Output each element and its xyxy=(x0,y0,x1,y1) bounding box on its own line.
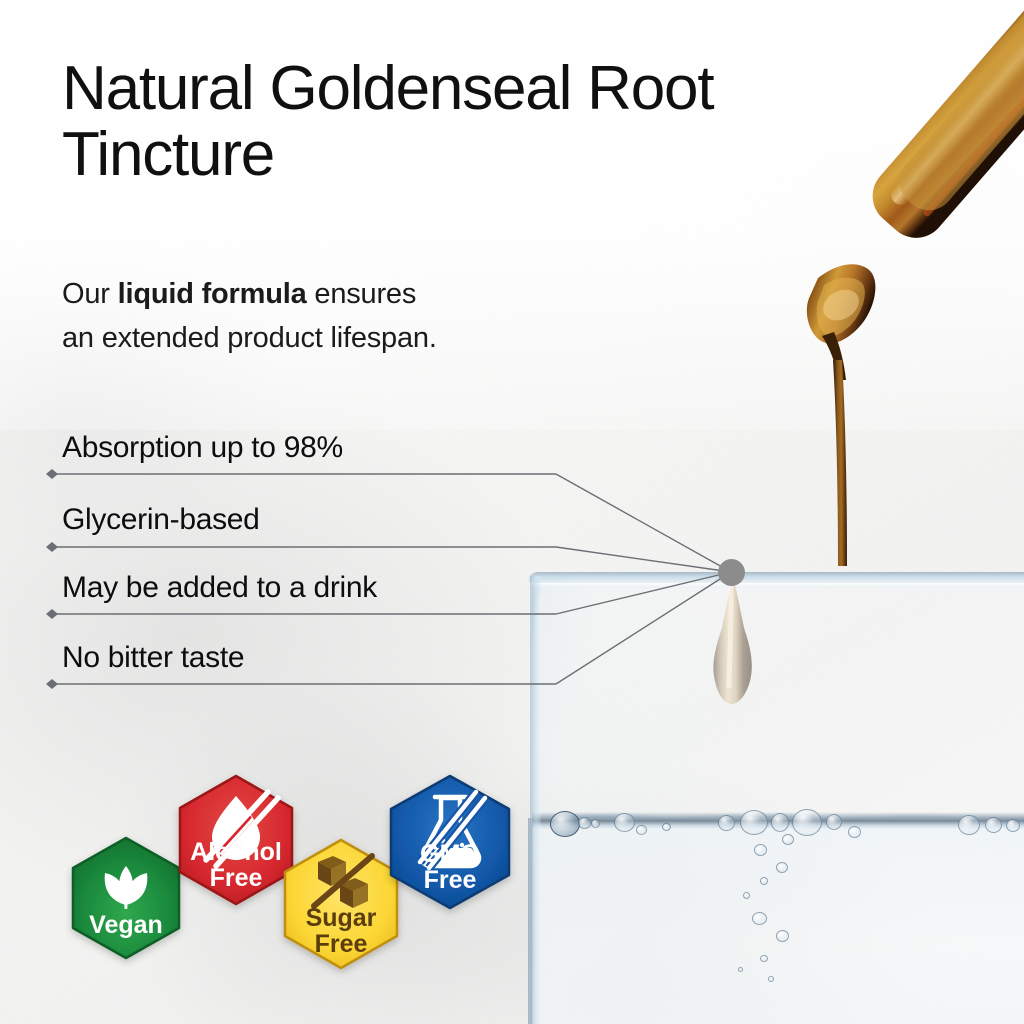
bubble xyxy=(776,930,789,942)
bubble xyxy=(740,810,768,835)
feature-label-glycerin: Glycerin-based xyxy=(62,503,260,537)
bubble xyxy=(752,912,767,925)
subtitle-emphasis: liquid formula xyxy=(118,278,307,310)
feature-label-add-to-drink: May be added to a drink xyxy=(62,571,377,605)
bubble xyxy=(738,967,743,972)
bubble xyxy=(760,877,768,885)
bubble xyxy=(768,976,774,982)
bubble xyxy=(760,955,768,962)
bubble xyxy=(848,826,861,838)
bubble xyxy=(550,811,580,837)
glass-rim-highlight xyxy=(530,583,1024,588)
bubble xyxy=(985,817,1002,833)
bubble xyxy=(826,814,842,830)
bubble xyxy=(614,813,635,832)
feature-label-no-bitter-taste: No bitter taste xyxy=(62,641,244,675)
bubble xyxy=(958,815,980,835)
water-body xyxy=(534,824,1024,1024)
bubble xyxy=(754,844,767,856)
callout-hub-node xyxy=(718,559,745,586)
glass-of-water xyxy=(528,572,1024,1024)
feature-label-absorption: Absorption up to 98% xyxy=(62,431,343,465)
bubble xyxy=(1006,819,1020,832)
product-infographic: Natural Goldenseal Root Tincture Our liq… xyxy=(0,0,1024,1024)
bubble xyxy=(782,834,794,845)
subtitle-part-1: Our xyxy=(62,278,118,310)
bubble xyxy=(591,819,600,828)
page-title: Natural Goldenseal Root Tincture xyxy=(62,56,982,187)
bubble xyxy=(718,815,735,831)
liquid-drop xyxy=(710,578,756,706)
bubble xyxy=(636,825,647,835)
subtitle: Our liquid formula ensures an extended p… xyxy=(62,273,622,360)
bubble xyxy=(771,813,789,832)
bubble xyxy=(776,862,788,873)
glass-left-edge-shadow xyxy=(528,818,533,1024)
bubble xyxy=(662,823,671,831)
bubble xyxy=(743,892,750,899)
drop-svg xyxy=(710,578,756,706)
bubble xyxy=(578,817,591,829)
bubble xyxy=(792,809,822,836)
